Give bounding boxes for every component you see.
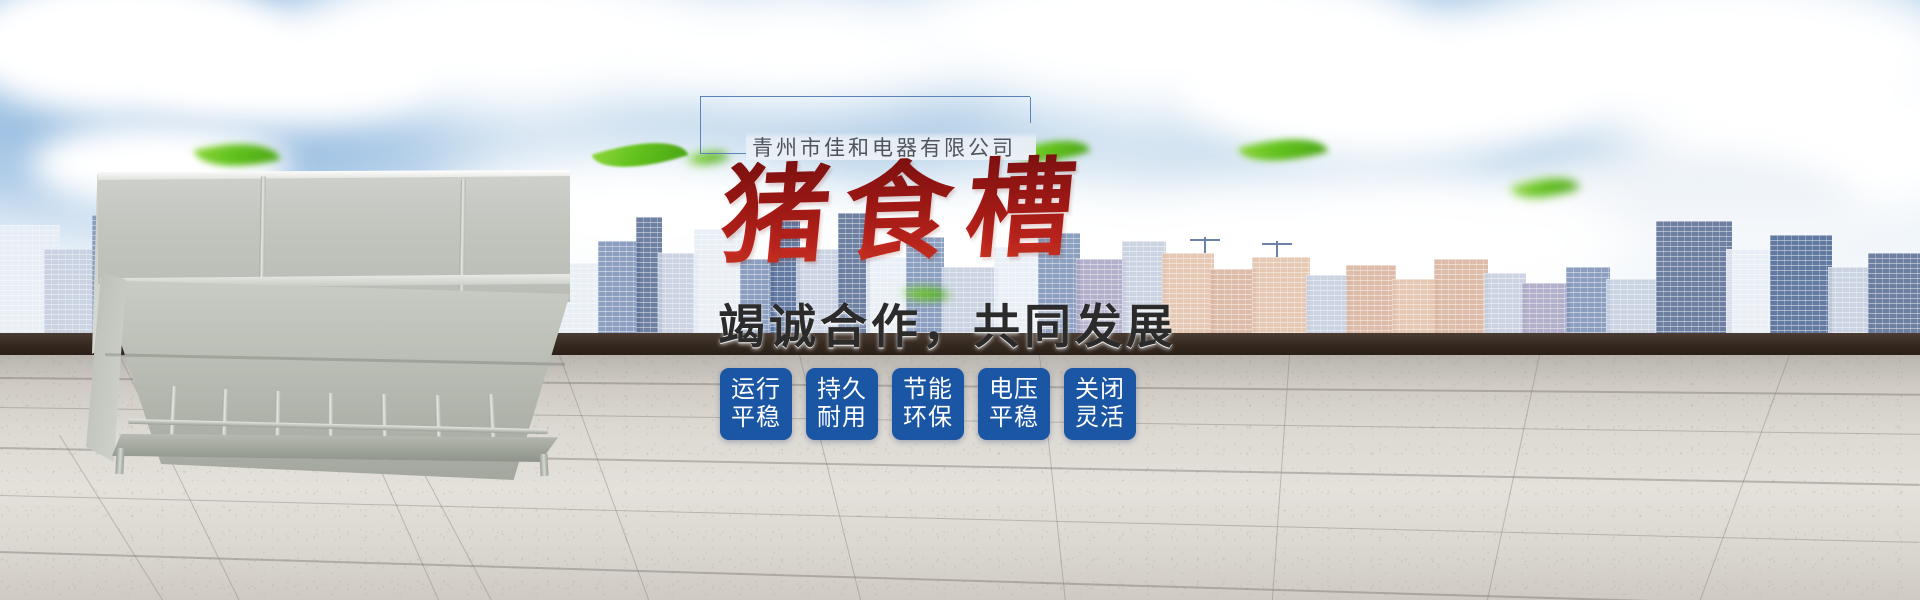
construction-crane [1190,237,1224,257]
building [658,253,698,345]
building [1770,235,1832,345]
trough-leg [115,448,124,474]
trough-left-edge [86,272,126,462]
building [1726,249,1774,345]
banner-subtitle: 竭诚合作，共同发展 [718,288,1177,357]
page-title: 猪食槽 [716,153,1093,271]
feature-badge[interactable]: 电压 平稳 [978,368,1050,440]
feature-badge-line1: 关闭 [1075,376,1125,404]
feature-badge-line2: 灵活 [1075,404,1125,432]
building [1656,221,1732,345]
building [1252,257,1310,345]
feature-badge[interactable]: 关闭 灵活 [1064,368,1136,440]
feature-badge[interactable]: 节能 环保 [892,368,964,440]
building [598,241,640,345]
feature-badge-line1: 持久 [817,376,867,404]
building [1868,253,1920,345]
feature-badge-line1: 节能 [903,376,953,404]
feature-badge-line2: 耐用 [817,404,867,432]
product-image-pig-feeder-trough [70,162,570,462]
feature-badge-line2: 环保 [903,404,953,432]
feature-badge-line1: 电压 [989,376,1039,404]
product-hero-banner: 青州市佳和电器有限公司 猪食槽 竭诚合作，共同发展 运行 平稳 持久 耐用 节能… [0,0,1920,600]
trough-leg [539,454,548,476]
feature-badge-line2: 平稳 [989,404,1039,432]
feature-badge-line2: 平稳 [731,404,781,432]
feature-badge[interactable]: 运行 平稳 [720,368,792,440]
feature-badge[interactable]: 持久 耐用 [806,368,878,440]
feature-badge-line1: 运行 [731,376,781,404]
construction-crane [1262,241,1296,261]
feature-badge-list: 运行 平稳 持久 耐用 节能 环保 电压 平稳 关闭 灵活 [720,368,1136,440]
